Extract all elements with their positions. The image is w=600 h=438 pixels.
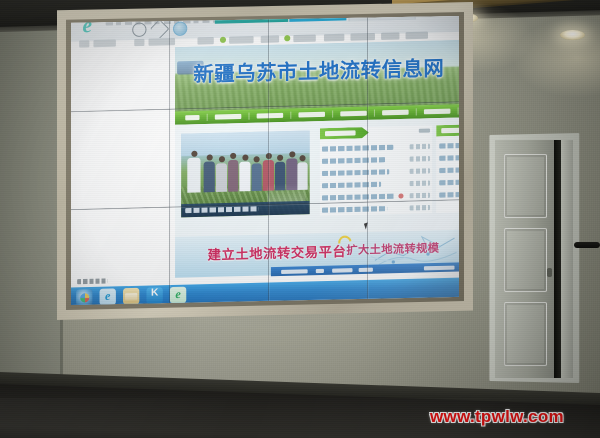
photo-person bbox=[187, 158, 200, 193]
door-panel-middle bbox=[504, 228, 547, 292]
site-banner: 新疆乌苏市土地流转信息网 bbox=[175, 40, 459, 112]
photo-scene: e bbox=[0, 0, 600, 438]
photo-person bbox=[239, 162, 250, 192]
status-bar-url bbox=[77, 278, 108, 284]
slogan-primary: 建立土地流转交易平台 bbox=[208, 241, 347, 264]
360-browser-icon[interactable] bbox=[170, 287, 186, 304]
photo-person bbox=[204, 161, 215, 192]
bookmark-favicon-2[interactable] bbox=[284, 35, 290, 41]
home-icon[interactable] bbox=[150, 19, 169, 38]
nav-item-2[interactable] bbox=[257, 113, 284, 119]
nav-buttons[interactable] bbox=[132, 21, 203, 37]
wall-rail bbox=[574, 242, 600, 248]
new-badge-icon bbox=[398, 193, 403, 198]
slogan-secondary: 扩大土地流转规模 bbox=[346, 239, 439, 258]
door-panel-bottom bbox=[504, 302, 547, 366]
downlight-2 bbox=[560, 30, 585, 40]
news-item[interactable] bbox=[322, 180, 430, 188]
nav-item-1[interactable] bbox=[215, 114, 242, 120]
site-content bbox=[175, 117, 459, 245]
photo-watermark bbox=[267, 184, 306, 203]
footer-item-0 bbox=[281, 269, 308, 274]
globe-icon[interactable] bbox=[173, 21, 187, 36]
kingsoft-icon[interactable] bbox=[146, 287, 162, 304]
bookmark-favicon[interactable] bbox=[220, 37, 226, 43]
door-handle[interactable] bbox=[547, 268, 552, 277]
news-item[interactable] bbox=[439, 154, 459, 161]
news-item[interactable] bbox=[439, 178, 459, 185]
nav-item-4[interactable] bbox=[340, 111, 367, 117]
news-item[interactable] bbox=[322, 193, 430, 201]
nav-item-0[interactable] bbox=[185, 115, 199, 120]
nav-item-5[interactable] bbox=[382, 110, 409, 116]
file-explorer-icon[interactable] bbox=[123, 288, 139, 305]
column-title-tab bbox=[436, 124, 459, 136]
mouse-cursor bbox=[364, 222, 370, 229]
news-item[interactable] bbox=[439, 166, 459, 173]
footer-item-2 bbox=[424, 266, 455, 271]
more-link[interactable] bbox=[419, 128, 430, 132]
internet-explorer-icon[interactable] bbox=[100, 288, 116, 305]
news-item[interactable] bbox=[322, 156, 430, 164]
news-item[interactable] bbox=[322, 205, 430, 213]
interior-door[interactable] bbox=[489, 134, 579, 382]
nav-item-3[interactable] bbox=[298, 112, 325, 118]
news-item[interactable] bbox=[322, 144, 430, 152]
column-title bbox=[325, 130, 356, 136]
photo-person bbox=[228, 160, 238, 192]
feature-photo[interactable] bbox=[181, 130, 310, 217]
nav-item-6[interactable] bbox=[424, 109, 451, 115]
news-item[interactable] bbox=[439, 190, 459, 197]
door-inner-jamb bbox=[561, 140, 573, 378]
video-wall-screen[interactable]: e bbox=[71, 16, 459, 305]
browser-page[interactable]: e bbox=[71, 16, 459, 305]
door-gap-shadow bbox=[554, 140, 561, 378]
photo-caption-bar bbox=[181, 201, 310, 218]
photo-person bbox=[252, 163, 262, 191]
photo-person bbox=[216, 163, 227, 192]
door-leaf[interactable] bbox=[495, 140, 554, 378]
image-watermark: www.tpwlw.com bbox=[430, 407, 564, 427]
column-title bbox=[441, 127, 459, 133]
news-column-work-updates bbox=[320, 125, 432, 216]
news-column-announcements bbox=[436, 123, 459, 213]
photo-caption bbox=[185, 206, 258, 213]
column-title-tab bbox=[320, 127, 369, 139]
news-item[interactable] bbox=[322, 168, 430, 176]
news-item[interactable] bbox=[439, 141, 459, 148]
footer-item-1 bbox=[332, 268, 352, 273]
refresh-icon[interactable] bbox=[132, 22, 146, 37]
door-panel-top bbox=[504, 154, 547, 218]
door-opening bbox=[495, 140, 573, 378]
start-button[interactable] bbox=[76, 289, 92, 305]
